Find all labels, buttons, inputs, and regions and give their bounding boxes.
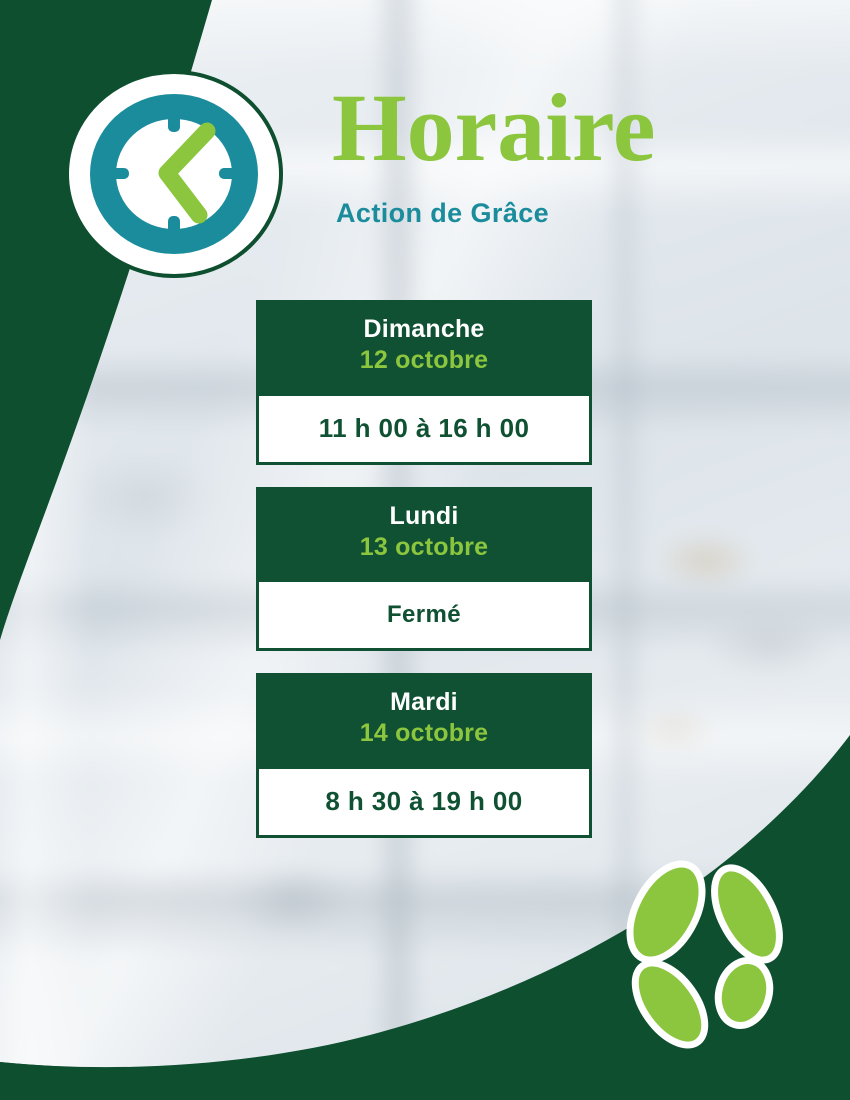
page-subtitle: Action de Grâce [336,198,655,229]
poster-header: Horaire Action de Grâce [0,0,850,290]
schedule-card: Mardi 14 octobre 8 h 30 à 19 h 00 [256,673,592,838]
schedule-date: 13 octobre [266,532,582,563]
schedule-hours: Fermé [256,579,592,651]
schedule-card-header: Dimanche 12 octobre [256,300,592,393]
schedule-day: Mardi [266,687,582,718]
schedule-date: 14 octobre [266,718,582,749]
page-title: Horaire [332,80,655,176]
schedule-day: Dimanche [266,314,582,345]
schedule-hours: 8 h 30 à 19 h 00 [256,766,592,838]
title-block: Horaire Action de Grâce [332,80,655,229]
schedule-list: Dimanche 12 octobre 11 h 00 à 16 h 00 Lu… [256,300,592,860]
schedule-card-header: Lundi 13 octobre [256,487,592,580]
schedule-date: 12 octobre [266,345,582,376]
poster-root: Horaire Action de Grâce Dimanche 12 octo… [0,0,850,1100]
clock-icon [64,69,284,279]
schedule-hours: 11 h 00 à 16 h 00 [256,393,592,465]
schedule-day: Lundi [266,501,582,532]
schedule-card: Lundi 13 octobre Fermé [256,487,592,652]
butterfly-logo [614,856,804,1056]
schedule-card-header: Mardi 14 octobre [256,673,592,766]
schedule-card: Dimanche 12 octobre 11 h 00 à 16 h 00 [256,300,592,465]
